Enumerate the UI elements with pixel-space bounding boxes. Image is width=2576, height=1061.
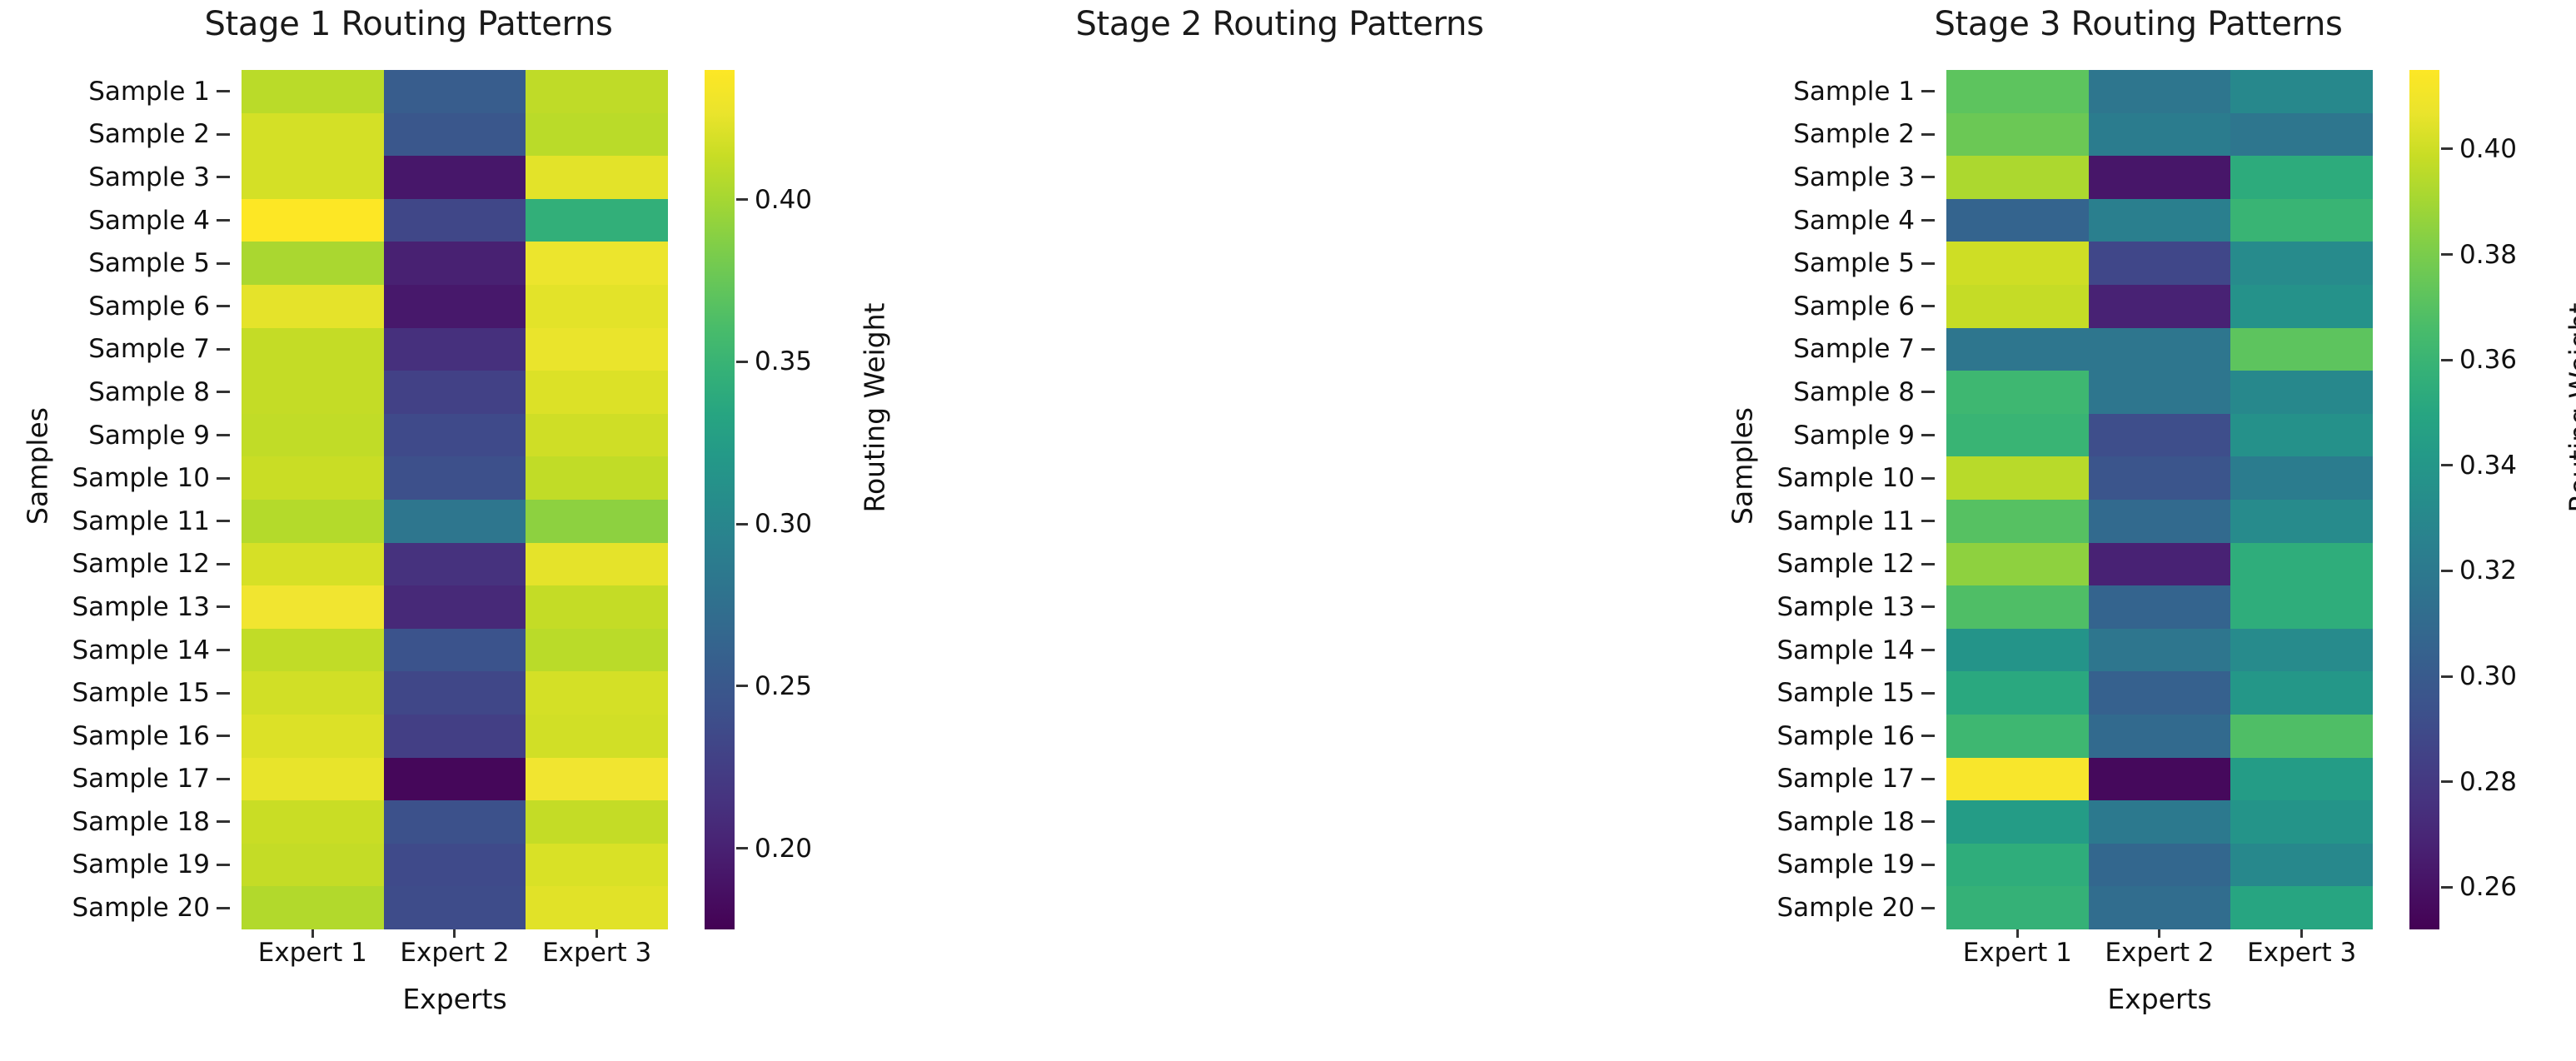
y-tick-mark-icon [217,778,230,780]
y-tick-mark-icon [217,348,230,351]
heatmap-cell [242,156,384,199]
y-tick-mark-icon [217,176,230,178]
x-tick-label: Expert 1 [242,938,384,976]
y-tick-label: Sample 16 [33,715,233,758]
y-tick-text: Sample 17 [72,764,210,794]
heatmap-cell [384,113,526,157]
x-tick-label: Expert 2 [384,938,526,976]
y-tick-label: Sample 12 [33,543,233,586]
page-title-stage-2: Stage 2 Routing Patterns [850,5,1709,43]
y-tick-text: Sample 10 [72,463,210,493]
y-tick-text: Sample 7 [88,334,210,364]
heatmap-cell [526,543,668,586]
y-tick-text: Sample 11 [72,506,210,536]
y-tick-mark-icon [217,735,230,737]
y-tick-label: Sample 14 [33,629,233,672]
y-tick-label: Sample 1 [33,70,233,113]
y-tick-mark-icon [217,563,230,565]
colorbar-tick-mark-icon [736,847,748,849]
heatmap-cell [526,715,668,758]
heatmap-cell [384,844,526,887]
y-tick-label: Sample 11 [33,500,233,543]
heatmap-stage-1[interactable] [242,70,668,929]
y-tick-mark-icon [217,391,230,393]
heatmap-cell [384,629,526,672]
x-axis-title-stage-1: Experts [242,983,668,1015]
y-tick-mark-icon [217,305,230,307]
y-tick-mark-icon [217,90,230,92]
panel-stage-3: Stage 3 Routing Patterns Samples Sample … [1717,0,2576,1061]
heatmap-cell [242,70,384,113]
heatmap-cell [526,156,668,199]
y-tick-text: Sample 20 [72,893,210,923]
heatmap-cell [384,328,526,371]
heatmap-cell [526,758,668,801]
heatmap-cell [242,844,384,887]
colorbar-tick-text: 0.40 [755,185,812,215]
colorbar-tick-label: 0.35 [736,346,812,376]
heatmap-cell [526,371,668,414]
y-tick-label: Sample 6 [33,285,233,328]
heatmap-cell [526,456,668,500]
heatmap-cell [526,671,668,715]
colorbar-tick-label: 0.30 [736,509,812,539]
heatmap-cell [242,285,384,328]
colorbar-tick-label: 0.40 [736,185,812,215]
colorbar-tick-label: 0.20 [736,834,812,864]
heatmap-cell [384,285,526,328]
colorbar-tick-text: 0.35 [755,346,812,376]
y-tick-text: Sample 13 [72,592,210,622]
heatmap-cell [384,199,526,242]
y-tick-label: Sample 9 [33,414,233,457]
colorbar-tick-label: 0.25 [736,671,812,701]
y-tick-mark-icon [217,219,230,222]
heatmap-cell [242,371,384,414]
heatmap-cell [384,156,526,199]
page-title-stage-1: Stage 1 Routing Patterns [0,5,838,43]
heatmap-cell [384,242,526,285]
y-tick-label: Sample 10 [33,456,233,500]
heatmap-cell [242,715,384,758]
colorbar-ticks-stage-1: 0.400.350.300.250.20 [736,70,878,929]
routing-patterns-figure: Stage 1 Routing Patterns Samples Sample … [0,0,2576,1061]
x-tick-labels-stage-1: Expert 1Expert 2Expert 3 [242,938,668,976]
heatmap-cell [526,70,668,113]
y-tick-mark-icon [217,262,230,265]
heatmap-cell [384,414,526,457]
heatmap-cell [242,328,384,371]
heatmap-cell [242,671,384,715]
heatmap-cell [384,456,526,500]
heatmap-cell [384,671,526,715]
heatmap-cell [242,886,384,929]
y-tick-mark-icon [217,434,230,436]
heatmap-cell [242,758,384,801]
heatmap-cell [384,800,526,844]
heatmap-grid-stage-1 [242,70,668,929]
panel-stage-1: Stage 1 Routing Patterns Samples Sample … [0,0,859,1061]
y-tick-text: Sample 1 [88,77,210,107]
heatmap-cell [384,70,526,113]
heatmap-cell [526,285,668,328]
colorbar-tick-text: 0.25 [755,671,812,701]
y-tick-text: Sample 14 [72,635,210,665]
heatmap-cell [384,500,526,543]
y-tick-text: Sample 8 [88,377,210,407]
heatmap-cell [242,500,384,543]
heatmap-cell [384,758,526,801]
heatmap-cell [242,456,384,500]
heatmap-cell [526,113,668,157]
heatmap-cell [526,800,668,844]
y-tick-mark-icon [217,692,230,695]
y-tick-text: Sample 19 [72,849,210,879]
y-tick-label: Sample 7 [33,328,233,371]
heatmap-cell [384,371,526,414]
y-tick-label: Sample 18 [33,800,233,844]
y-tick-mark-icon [217,133,230,136]
heatmap-cell [526,328,668,371]
colorbar-tick-mark-icon [736,523,748,526]
y-tick-labels-stage-1: Sample 1Sample 2Sample 3Sample 4Sample 5… [33,70,233,929]
y-tick-label: Sample 3 [33,156,233,199]
y-tick-text: Sample 6 [88,291,210,321]
y-tick-mark-icon [217,649,230,651]
y-tick-text: Sample 18 [72,807,210,837]
heatmap-cell [526,500,668,543]
colorbar-tick-text: 0.20 [755,834,812,864]
y-tick-label: Sample 5 [33,242,233,285]
y-tick-text: Sample 9 [88,421,210,451]
heatmap-cell [526,414,668,457]
y-tick-text: Sample 15 [72,678,210,708]
heatmap-cell [526,585,668,629]
colorbar-tick-mark-icon [736,361,748,363]
y-tick-label: Sample 20 [33,886,233,929]
y-tick-label: Sample 19 [33,844,233,887]
y-tick-text: Sample 16 [72,721,210,751]
heatmap-cell [242,543,384,586]
y-tick-mark-icon [217,477,230,480]
y-tick-label: Sample 8 [33,371,233,414]
heatmap-cell [242,800,384,844]
heatmap-cell [242,629,384,672]
heatmap-cell [242,414,384,457]
heatmap-cell [526,629,668,672]
panel-stage-2: Stage 2 Routing Patterns Samples Sample … [859,0,1717,1061]
y-tick-text: Sample 3 [88,162,210,192]
y-tick-text: Sample 5 [88,248,210,278]
heatmap-cell [242,585,384,629]
y-tick-mark-icon [217,907,230,909]
y-tick-label: Sample 2 [33,113,233,157]
x-tick-label: Expert 3 [526,938,668,976]
page-title-stage-3: Stage 3 Routing Patterns [1709,5,2568,43]
colorbar-tick-mark-icon [736,198,748,201]
y-tick-label: Sample 17 [33,758,233,801]
y-tick-mark-icon [217,864,230,866]
y-tick-text: Sample 4 [88,206,210,236]
y-tick-label: Sample 13 [33,585,233,629]
heatmap-cell [384,715,526,758]
heatmap-cell [526,199,668,242]
heatmap-cell [384,585,526,629]
heatmap-cell [526,886,668,929]
heatmap-cell [242,242,384,285]
colorbar-stage-1 [705,70,735,929]
heatmap-cell [526,844,668,887]
heatmap-cell [242,113,384,157]
y-tick-label: Sample 15 [33,671,233,715]
colorbar-tick-mark-icon [736,685,748,687]
y-tick-mark-icon [217,520,230,522]
y-tick-text: Sample 12 [72,549,210,579]
heatmap-cell [526,242,668,285]
y-tick-label: Sample 4 [33,199,233,242]
colorbar-gradient-stage-1 [705,70,735,929]
y-tick-mark-icon [217,820,230,823]
colorbar-tick-text: 0.30 [755,509,812,539]
y-tick-text: Sample 2 [88,119,210,149]
heatmap-cell [242,199,384,242]
heatmap-cell [384,886,526,929]
heatmap-cell [384,543,526,586]
x-tick-marks-stage-1 [242,929,668,938]
y-tick-mark-icon [217,605,230,608]
